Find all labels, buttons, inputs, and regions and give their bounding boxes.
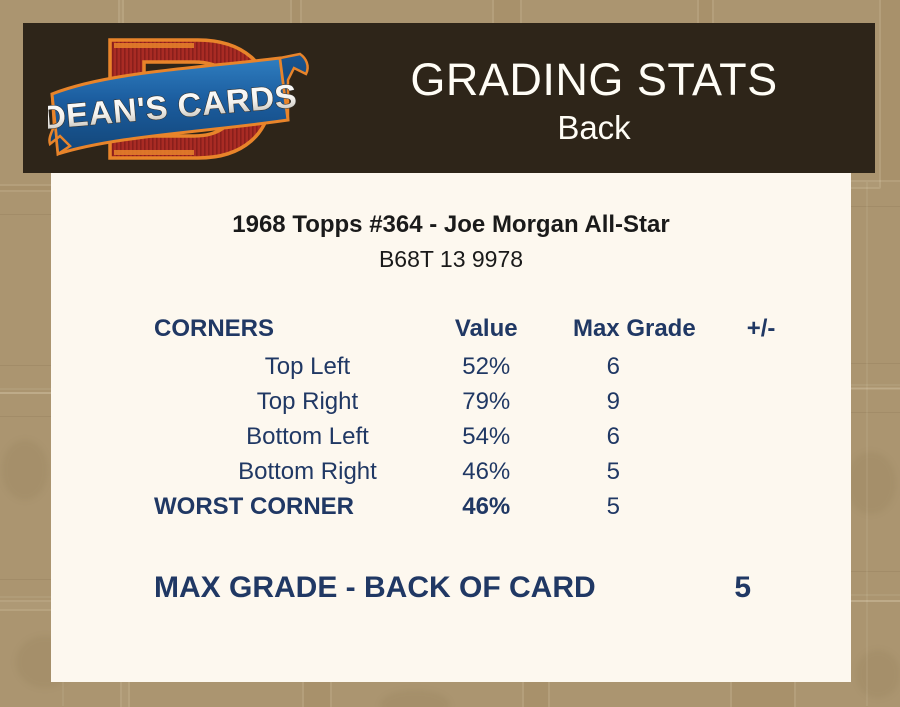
row-max-grade: 5: [542, 489, 724, 524]
max-grade-value: 5: [734, 571, 799, 605]
row-label: Bottom Right: [154, 454, 431, 489]
row-value: 79%: [431, 384, 542, 419]
card-serial: B68T 13 9978: [51, 246, 851, 273]
table-row: Bottom Right 46% 5: [154, 454, 799, 489]
card-title: 1968 Topps #364 - Joe Morgan All-Star: [51, 211, 851, 239]
header-corners: CORNERS: [154, 309, 431, 349]
row-plus-minus: [723, 419, 799, 454]
background-figure-blob: [2, 440, 48, 500]
header-band: DEAN'S CARDS GRADING STATS Back: [23, 23, 875, 173]
row-value: 46%: [431, 489, 542, 524]
table-header: CORNERS Value Max Grade +/-: [154, 309, 799, 349]
table-header-row: CORNERS Value Max Grade +/-: [154, 309, 799, 349]
background-figure-blob: [846, 452, 896, 514]
row-max-grade: 5: [542, 454, 724, 489]
header-max-grade: Max Grade: [542, 309, 724, 349]
row-max-grade: 6: [542, 349, 724, 384]
header-value: Value: [431, 309, 542, 349]
deans-cards-logo[interactable]: DEAN'S CARDS: [48, 28, 313, 170]
table-row: Bottom Left 54% 6: [154, 419, 799, 454]
corner-grading-table: CORNERS Value Max Grade +/- Top Left 52%…: [154, 309, 799, 524]
page-title: GRADING STATS: [410, 54, 777, 106]
table-row-worst-corner: WORST CORNER 46% 5: [154, 489, 799, 524]
table-row: Top Right 79% 9: [154, 384, 799, 419]
max-grade-label: MAX GRADE - BACK OF CARD: [154, 571, 596, 605]
header-plus-minus: +/-: [723, 309, 799, 349]
row-value: 46%: [431, 454, 542, 489]
table-body: Top Left 52% 6 Top Right 79% 9 Bottom Le…: [154, 349, 799, 524]
background-figure-blob: [856, 650, 900, 698]
table-row: Top Left 52% 6: [154, 349, 799, 384]
max-grade-summary: MAX GRADE - BACK OF CARD 5: [154, 571, 799, 605]
row-plus-minus: [723, 489, 799, 524]
title-block: GRADING STATS Back: [313, 23, 875, 173]
row-max-grade: 6: [542, 419, 724, 454]
background-divider: [866, 182, 868, 706]
row-value: 52%: [431, 349, 542, 384]
row-label: Bottom Left: [154, 419, 431, 454]
row-label: Top Right: [154, 384, 431, 419]
row-plus-minus: [723, 349, 799, 384]
row-plus-minus: [723, 454, 799, 489]
row-label: Top Left: [154, 349, 431, 384]
content-panel: 1968 Topps #364 - Joe Morgan All-Star B6…: [51, 173, 851, 682]
row-max-grade: 9: [542, 384, 724, 419]
row-label: WORST CORNER: [154, 489, 431, 524]
row-plus-minus: [723, 384, 799, 419]
page-subtitle: Back: [557, 108, 630, 148]
row-value: 54%: [431, 419, 542, 454]
